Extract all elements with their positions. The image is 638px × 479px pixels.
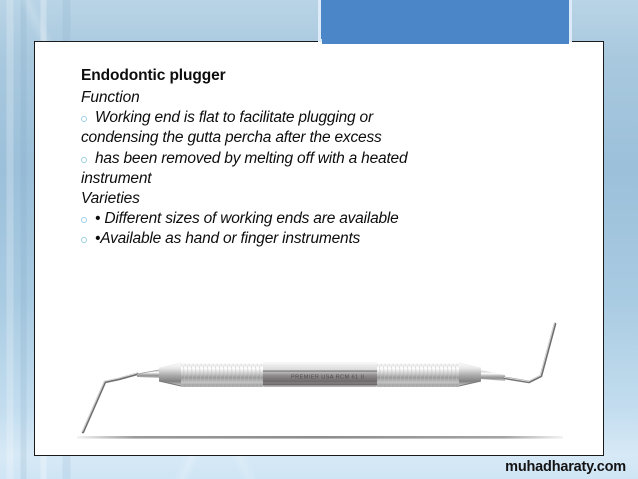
bullet-item-1-text: Working end is flat to facilitate pluggi… [95, 109, 373, 126]
slide-background: Endodontic plugger Function Working end … [0, 0, 638, 479]
bullet-circle-icon [81, 157, 87, 163]
bullet-item-1-continuation: condensing the gutta percha after the ex… [81, 128, 581, 148]
slide-canvas: Endodontic plugger Function Working end … [34, 41, 604, 456]
section-heading-function: Function [81, 88, 581, 108]
bullet-item-4-text: •Available as hand or finger instruments [95, 230, 360, 247]
bullet-item-4: •Available as hand or finger instruments [81, 229, 581, 249]
slide-text-block: Endodontic plugger Function Working end … [81, 66, 581, 249]
slide-title: Endodontic plugger [81, 66, 581, 86]
accent-rectangle-fill [322, 38, 569, 44]
bullet-item-2-continuation: instrument [81, 169, 581, 189]
section-heading-varieties: Varieties [81, 189, 581, 209]
bullet-item-2-text: has been removed by melting off with a h… [95, 150, 407, 167]
bullet-circle-icon [81, 237, 87, 243]
bullet-circle-icon [81, 217, 87, 223]
bullet-item-3-text: • Different sizes of working ends are av… [95, 210, 399, 227]
bullet-item-2: has been removed by melting off with a h… [81, 149, 581, 169]
instrument-image: PREMIER USA RCM 61 II [59, 314, 581, 444]
bullet-item-3: • Different sizes of working ends are av… [81, 209, 581, 229]
instrument-engraving-text: PREMIER USA RCM 61 II [291, 375, 364, 381]
bullet-circle-icon [81, 116, 87, 122]
bullet-item-1: Working end is flat to facilitate pluggi… [81, 108, 581, 128]
footer-watermark: muhadharaty.com [505, 459, 626, 475]
accent-rectangle [318, 0, 572, 42]
